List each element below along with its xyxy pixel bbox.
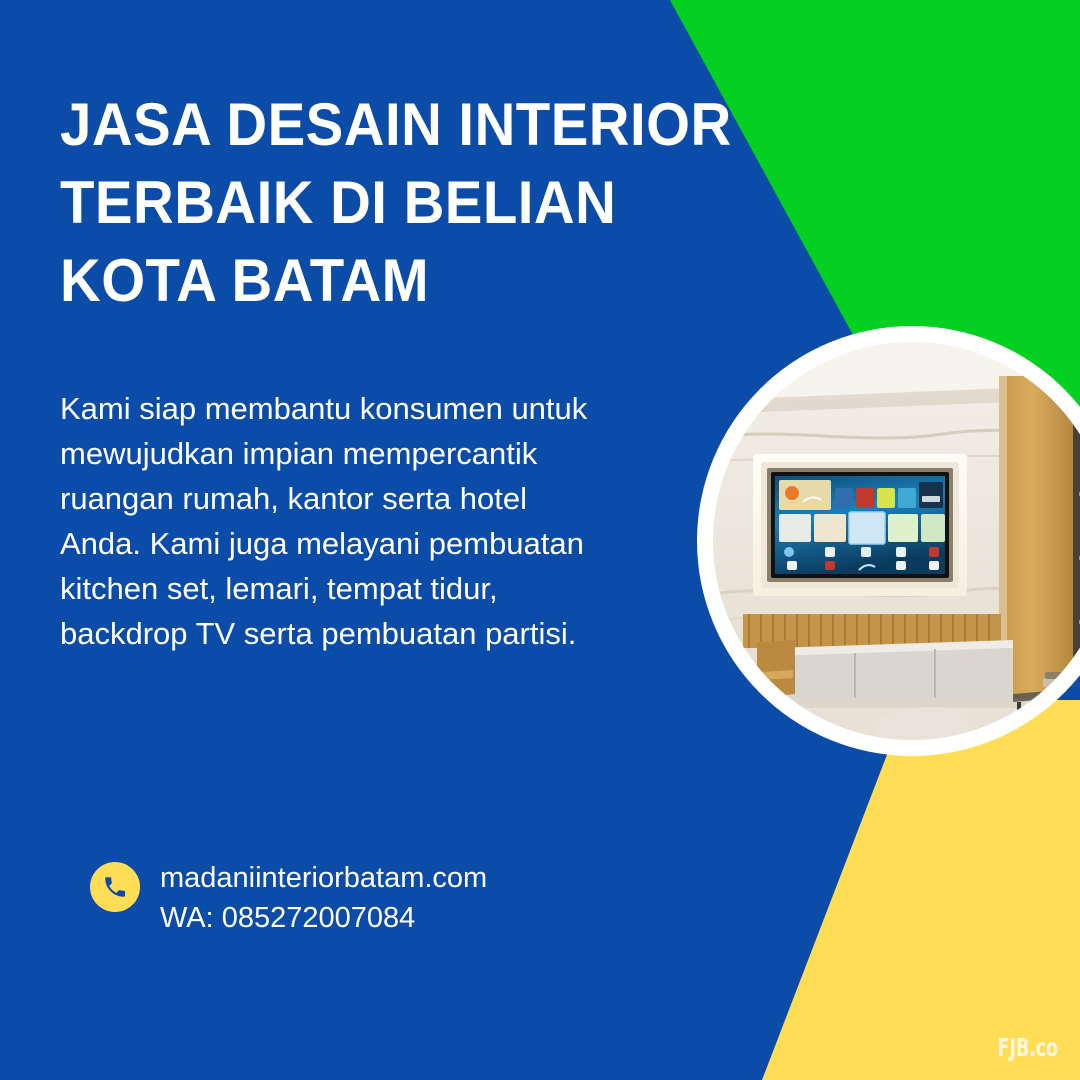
interior-photo-illustration — [713, 342, 1080, 740]
headline-line-2: TERBAIK DI BELIAN — [60, 164, 718, 242]
phone-icon — [90, 862, 140, 912]
whatsapp-text[interactable]: WA: 085272007084 — [160, 898, 487, 938]
interior-photo — [713, 342, 1080, 740]
contact-details: madaniinteriorbatam.com WA: 085272007084 — [160, 858, 487, 938]
headline-line-3: KOTA BATAM — [60, 242, 718, 320]
watermark: FJB.co — [998, 1033, 1058, 1062]
description-paragraph: Kami siap membantu konsumen untuk mewuju… — [60, 386, 600, 656]
contact-block: madaniinteriorbatam.com WA: 085272007084 — [90, 858, 487, 938]
page-title: JASA DESAIN INTERIOR TERBAIK DI BELIAN K… — [60, 86, 718, 320]
headline-line-1: JASA DESAIN INTERIOR — [60, 86, 718, 164]
website-text[interactable]: madaniinteriorbatam.com — [160, 858, 487, 898]
poster-canvas: JASA DESAIN INTERIOR TERBAIK DI BELIAN K… — [0, 0, 1080, 1080]
photo-circle-frame — [697, 326, 1080, 756]
